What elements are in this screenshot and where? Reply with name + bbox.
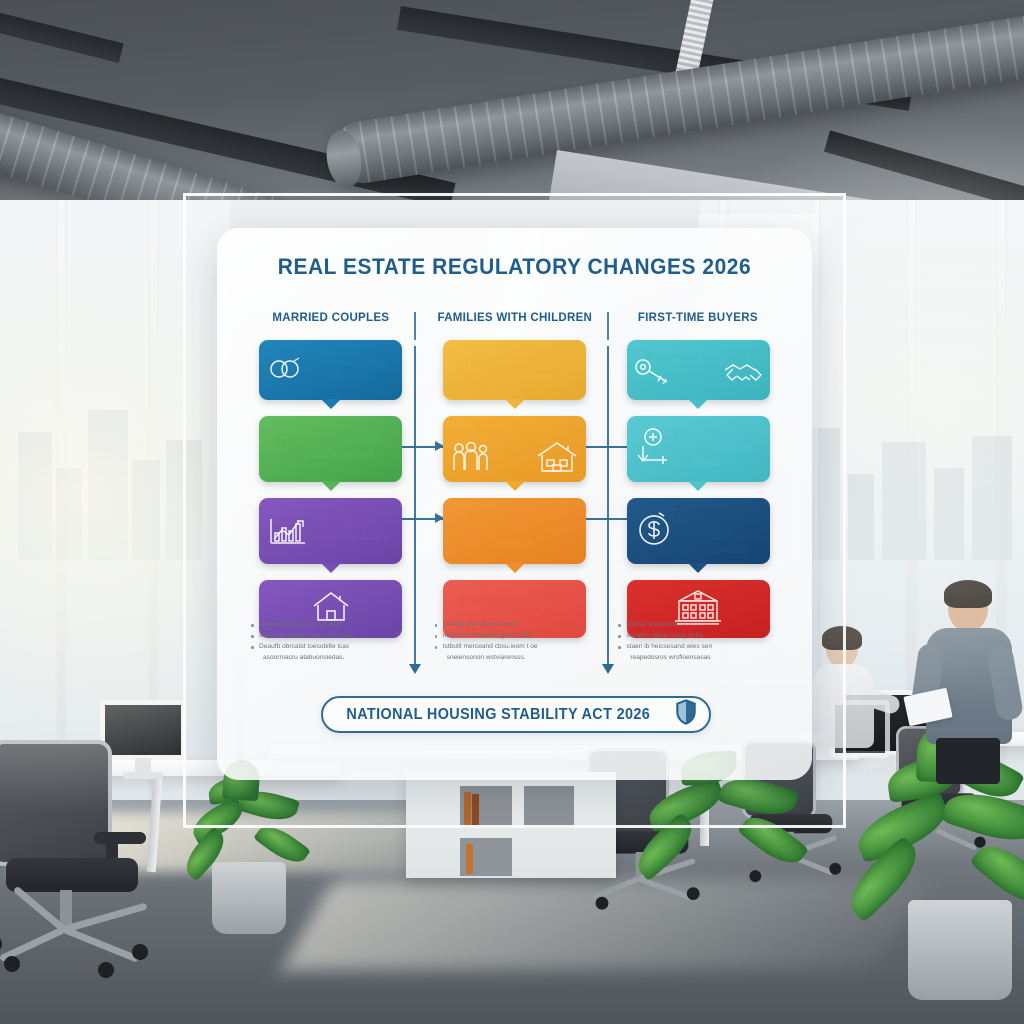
- header-divider: [414, 312, 416, 340]
- column-married-couples: Joint Ownership Reforms Increased Tax Cr…: [239, 340, 423, 654]
- card-label: School District-Based Incentives: [454, 596, 575, 622]
- bullet-text: staen ib heicsesand wies sen: [626, 643, 712, 650]
- flow-arrow-down-left: [409, 664, 421, 674]
- card-tail: [688, 481, 708, 491]
- card-flexible-credit-score[interactable]: Flexible Credit Score on Eligibility Req…: [627, 498, 770, 564]
- banner-label: NATIONAL HOUSING STABILITY ACT 2026: [346, 706, 650, 724]
- list-item: tstbuilt merceand cbsu.ieom t oe sneiens…: [435, 642, 595, 662]
- card-label: Joint Ownership Reforms: [271, 357, 392, 383]
- bullet-text-cont: asoormacru atabuonsiedas.: [259, 653, 411, 663]
- column-first-time-buyers: Expanded Eligibility for Lower Intere: [606, 340, 790, 654]
- card-increased-tax-credits[interactable]: Increased Tax Credits for Dual Incomes: [259, 416, 402, 482]
- bullet-text: staceses estadir sseq, oth otiool: [259, 632, 353, 639]
- card-lower-interest-rates[interactable]: Lower Interest Rates on Starter Homes: [627, 416, 770, 482]
- card-label: Lower Interest Rates on Starter Homes: [638, 429, 759, 468]
- card-tail: [688, 563, 708, 573]
- card-label: Child-Centered: [475, 424, 553, 437]
- bullets-first-time-buyers: lonmat suloie dolor st ven snsalice diat…: [606, 620, 790, 664]
- bullet-text: maticars siritakimeog arft obes: [443, 632, 532, 639]
- header-divider: [607, 312, 609, 340]
- ceiling: [0, 0, 1024, 212]
- monitor: [100, 700, 186, 760]
- house-icon: [534, 440, 580, 478]
- card-label: Increased Tax Credits for Dual Incomes: [271, 436, 392, 462]
- column-headers: MARRIED COUPLES FAMILIES WITH CHILDREN F…: [239, 310, 790, 324]
- bullet-text: Lorempuistatru dier nat onet,: [259, 621, 343, 628]
- card-tail: [505, 399, 525, 409]
- list-item: staen ib heicsesand wies sen reapedosros…: [618, 642, 778, 662]
- list-item: staceses estadir sseq, oth otiool: [251, 631, 411, 641]
- card-tail: [321, 399, 341, 409]
- infographic-screenshot: REAL ESTATE REGULATORY CHANGES 2026 MARR…: [0, 0, 1024, 1024]
- list-item: maticars siritakimeog arft obes: [435, 631, 595, 641]
- card-label: Revised Inheritance Laws: [271, 518, 392, 544]
- card-revised-inheritance-laws[interactable]: Revised Inheritance Laws: [259, 498, 402, 564]
- storage-cabinet: [406, 772, 616, 878]
- bullet-text: snsalice diatat sraeg delia: [626, 632, 702, 639]
- card-child-centric-loan-programs[interactable]: Child-Centric Loan Loan Programs: [443, 340, 586, 400]
- list-item: lonmat suloie dolor st ven: [618, 620, 778, 630]
- page-title: REAL ESTATE REGULATORY CHANGES 2026: [238, 254, 791, 280]
- act-banner[interactable]: NATIONAL HOUSING STABILITY ACT 2026: [321, 696, 711, 733]
- card-label: Child-Centric Loan Loan Programs: [454, 357, 575, 383]
- bullets-married-couples: Lorempuistatru dier nat onet, staceses e…: [239, 620, 423, 664]
- shield-icon: [675, 699, 697, 730]
- column-header-families-with-children: FAMILIES WITH CHILDREN: [429, 310, 600, 324]
- bullet-text: Deaufb obrcatid toesubilte lcas: [259, 643, 349, 650]
- bullet-lists: Lorempuistatru dier nat onet, staceses e…: [239, 620, 790, 664]
- column-families-with-children: Child-Centric Loan Loan Programs: [423, 340, 607, 654]
- bullet-text-cont: reapedosros wrsfloensasas: [626, 653, 778, 663]
- bullet-text-cont: sneiensonon wstviarensss.: [443, 653, 595, 663]
- card-tail: [505, 563, 525, 573]
- card-columns: Joint Ownership Reforms Increased Tax Cr…: [239, 340, 790, 654]
- flow-arrow-down-right: [602, 664, 614, 674]
- card-child-centered[interactable]: Child-Centered: [443, 416, 586, 482]
- list-item: snsalice diatat sraeg delia: [618, 631, 778, 641]
- infographic-panel: REAL ESTATE REGULATORY CHANGES 2026 MARR…: [217, 228, 812, 780]
- card-tail: [505, 481, 525, 491]
- ceiling-beam: [0, 0, 124, 63]
- card-label: Subsidized Down Payments for Larger Home…: [454, 511, 575, 550]
- family-icon: [451, 442, 495, 476]
- card-expanded-eligibility[interactable]: Expanded Eligibility for: [627, 340, 770, 400]
- card-subsidized-down-payments[interactable]: Subsidized Down Payments for Larger Home…: [443, 498, 586, 564]
- column-header-first-time-buyers: FIRST-TIME BUYERS: [613, 310, 784, 324]
- bullet-text: lonmat suloie dolor st ven: [626, 621, 701, 628]
- bullet-text: tstbuilt merceand cbsu.ieom t oe: [443, 643, 538, 650]
- card-tail: [321, 481, 341, 491]
- card-label: Flexible Credit Score on Eligibility Req…: [638, 505, 759, 557]
- list-item: Lorempuistatru dier nat onet,: [251, 620, 411, 630]
- bullets-families-with-children: Loompi dser dolor st amd. maticars sirit…: [423, 620, 607, 664]
- column-header-married-couples: MARRIED COUPLES: [245, 310, 416, 324]
- card-joint-ownership-reforms[interactable]: Joint Ownership Reforms: [259, 340, 402, 400]
- card-tail: [688, 399, 708, 409]
- card-tail: [321, 563, 341, 573]
- card-label: Expanded Eligibility for: [638, 351, 759, 377]
- list-item: Deaufb obrcatid toesubilte lcas asoormac…: [251, 642, 411, 662]
